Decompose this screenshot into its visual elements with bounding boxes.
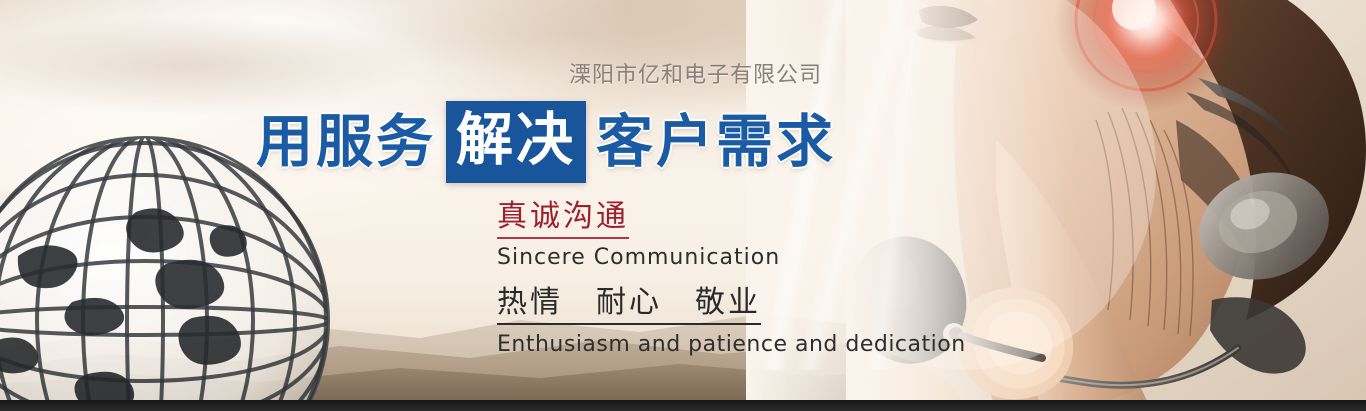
slogan-cn-sincere: 真诚沟通 (497, 199, 629, 239)
slogan-en-sincere: Sincere Communication (497, 242, 966, 274)
headline-part-2: 客户需求 (592, 105, 840, 179)
company-name: 溧阳市亿和电子有限公司 (569, 57, 822, 89)
headline-highlight: 解决 (446, 101, 586, 183)
slogan-block: 真诚沟通 Sincere Communication 热情 耐心 敬业 Enth… (497, 199, 966, 361)
bottom-bar (0, 400, 1366, 411)
hero-banner: 溧阳市亿和电子有限公司 用服务 解决 客户需求 真诚沟通 Sincere Com… (0, 0, 1366, 411)
slogan-en-enthusiasm: Enthusiasm and patience and dedication (497, 329, 966, 361)
headline-part-1: 用服务 (252, 105, 440, 179)
slogan-cn-enthusiasm: 热情 耐心 敬业 (497, 285, 761, 325)
slogan-line-1-wrap: 真诚沟通 (497, 199, 966, 239)
headline: 用服务 解决 客户需求 (252, 101, 840, 183)
slogan-line-2-wrap: 热情 耐心 敬业 (497, 274, 966, 325)
